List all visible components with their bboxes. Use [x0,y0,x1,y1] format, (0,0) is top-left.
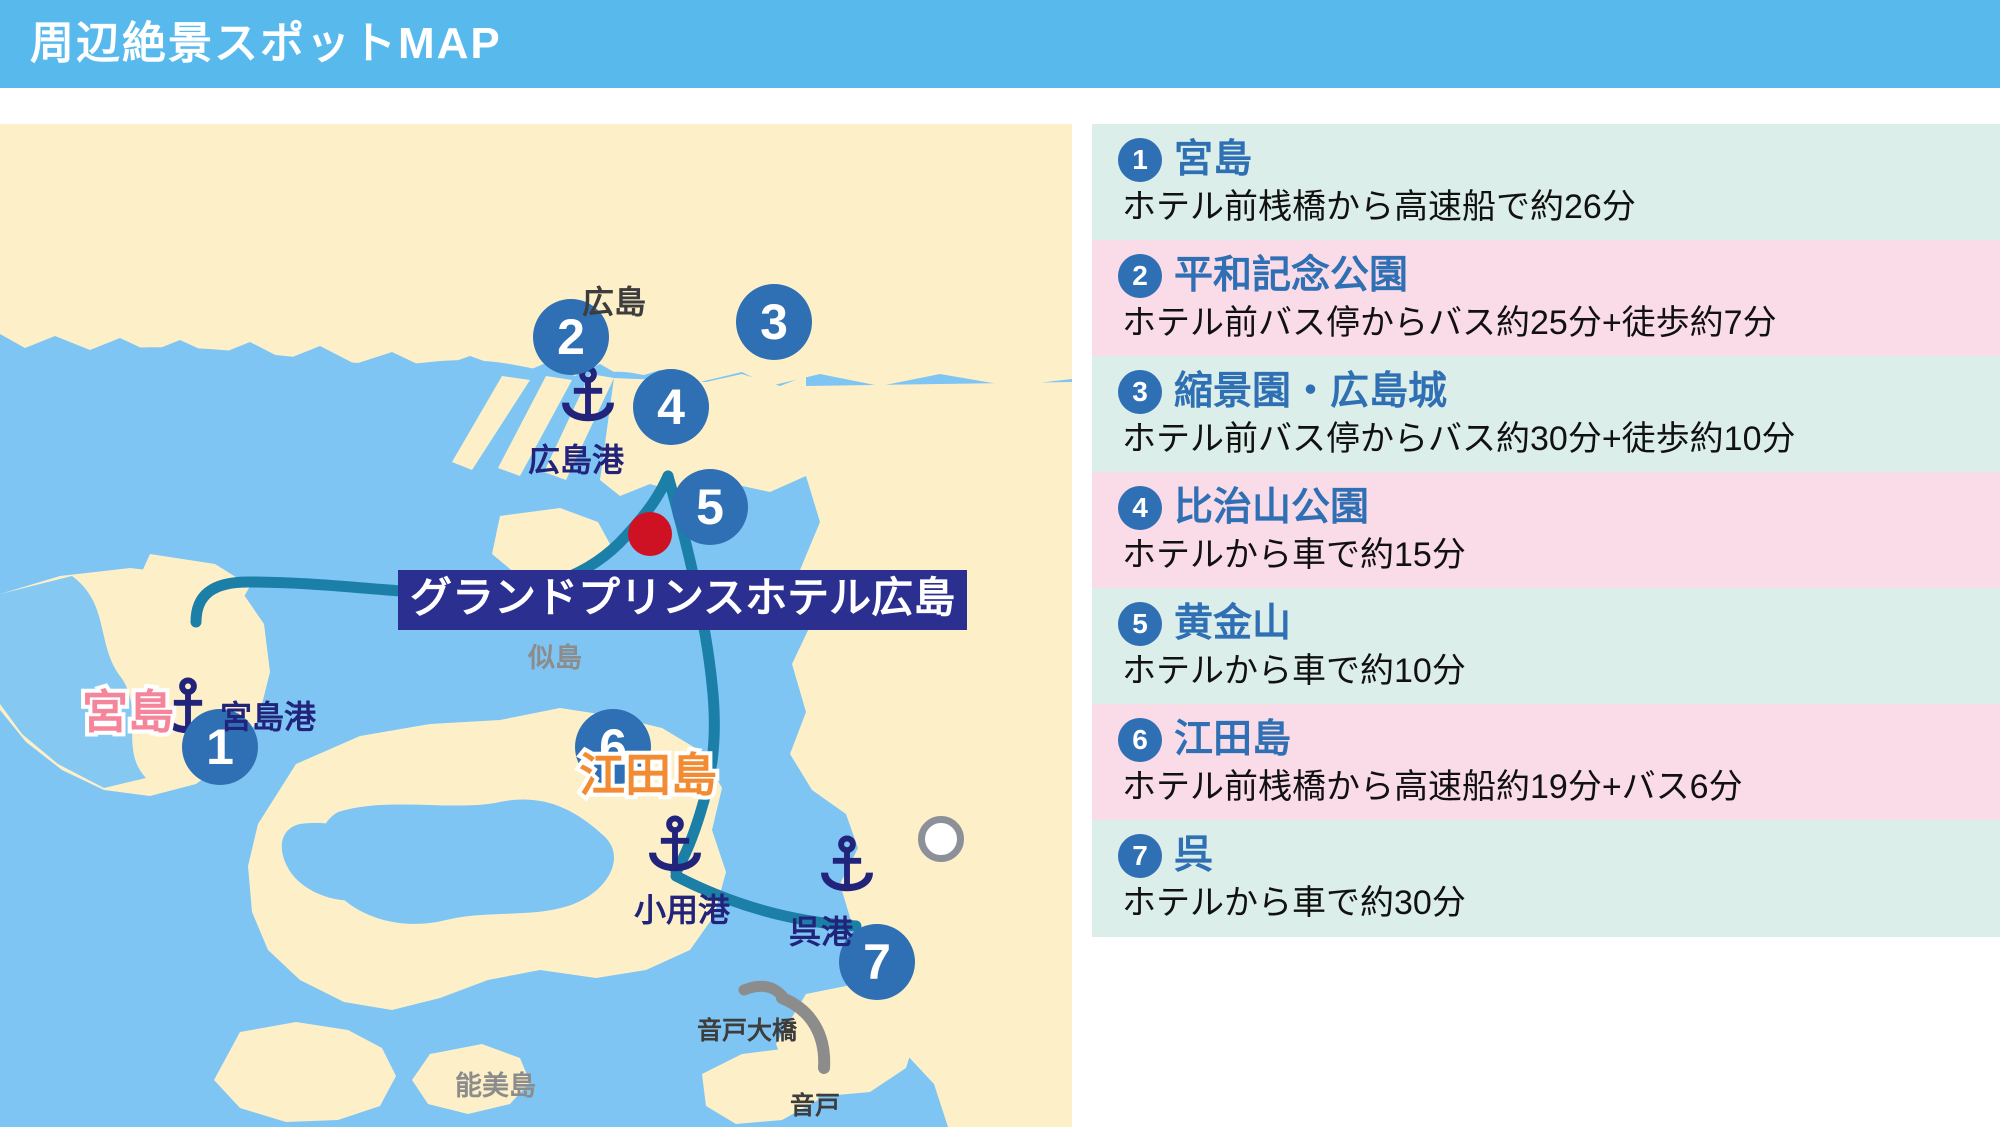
map-marker-3[interactable]: 3 [736,284,812,360]
label-kure-port: 呉港 [789,916,853,948]
map-marker-5[interactable]: 5 [672,469,748,545]
map-canvas[interactable]: 1 2 3 4 5 6 7 広島 広島港 宮島港 似島 小用港 呉港 音戸大橋 … [0,124,1072,1127]
map-page: 周辺絶景スポットMAP [0,0,2000,1127]
legend-desc-4: ホテルから車で約15分 [1122,536,1978,574]
legend-badge-6: 6 [1118,718,1162,762]
legend-row-4-head: 4 比治山公園 [1118,486,1978,530]
legend-row-3[interactable]: 3 縮景園・広島城 ホテル前バス停からバス約30分+徒歩約10分 [1092,356,2000,472]
label-etajima-island: 江田島 [579,752,717,798]
legend-badge-5: 5 [1118,602,1162,646]
kure-station-dot [918,816,964,862]
legend-row-5-head: 5 黄金山 [1118,602,1978,646]
legend-badge-7: 7 [1118,834,1162,878]
label-miyajima-port: 宮島港 [220,701,316,733]
legend-title-6: 江田島 [1174,719,1291,761]
legend-desc-1: ホテル前桟橋から高速船で約26分 [1122,188,1978,226]
page-header: 周辺絶景スポットMAP [0,0,2000,88]
legend-badge-1: 1 [1118,138,1162,182]
legend-badge-2: 2 [1118,254,1162,298]
legend-title-2: 平和記念公園 [1174,255,1408,297]
label-hiroshima-port: 広島港 [528,444,624,476]
legend-row-2-head: 2 平和記念公園 [1118,254,1978,298]
legend-badge-3: 3 [1118,370,1162,414]
legend-title-4: 比治山公園 [1174,487,1369,529]
legend-row-4[interactable]: 4 比治山公園 ホテルから車で約15分 [1092,472,2000,588]
hotel-location-dot [628,512,672,556]
legend-title-7: 呉 [1174,835,1213,877]
label-ondo-ohashi: 音戸大橋 [697,1019,797,1044]
legend-title-5: 黄金山 [1174,603,1291,645]
legend-row-2[interactable]: 2 平和記念公園 ホテル前バス停からバス約25分+徒歩約7分 [1092,240,2000,356]
spot-legend-list: 1 宮島 ホテル前桟橋から高速船で約26分 2 平和記念公園 ホテル前バス停から… [1092,124,2000,1127]
legend-title-3: 縮景園・広島城 [1174,371,1447,413]
legend-row-7-head: 7 呉 [1118,834,1978,878]
legend-desc-6: ホテル前桟橋から高速船約19分+バス6分 [1122,768,1978,806]
label-koyo-port: 小用港 [634,894,730,926]
legend-badge-4: 4 [1118,486,1162,530]
legend-row-1-head: 1 宮島 [1118,138,1978,182]
legend-row-7[interactable]: 7 呉 ホテルから車で約30分 [1092,820,2000,936]
hotel-name-banner: グランドプリンスホテル広島 [398,570,967,630]
label-ondo: 音戸 [790,1094,840,1119]
legend-row-5[interactable]: 5 黄金山 ホテルから車で約10分 [1092,588,2000,704]
legend-row-6-head: 6 江田島 [1118,718,1978,762]
legend-desc-7: ホテルから車で約30分 [1122,884,1978,922]
map-marker-4[interactable]: 4 [633,369,709,445]
legend-desc-2: ホテル前バス停からバス約25分+徒歩約7分 [1122,304,1978,342]
label-miyajima-island: 宮島 [82,689,174,735]
label-nomishima: 能美島 [455,1073,536,1100]
legend-desc-3: ホテル前バス停からバス約30分+徒歩約10分 [1122,420,1978,458]
legend-title-1: 宮島 [1174,139,1252,181]
page-title: 周辺絶景スポットMAP [30,13,502,75]
label-ninoshima: 似島 [528,645,582,672]
legend-row-6[interactable]: 6 江田島 ホテル前桟橋から高速船約19分+バス6分 [1092,704,2000,820]
legend-desc-5: ホテルから車で約10分 [1122,652,1978,690]
legend-row-1[interactable]: 1 宮島 ホテル前桟橋から高速船で約26分 [1092,124,2000,240]
legend-row-3-head: 3 縮景園・広島城 [1118,370,1978,414]
label-hiroshima: 広島 [582,286,646,318]
